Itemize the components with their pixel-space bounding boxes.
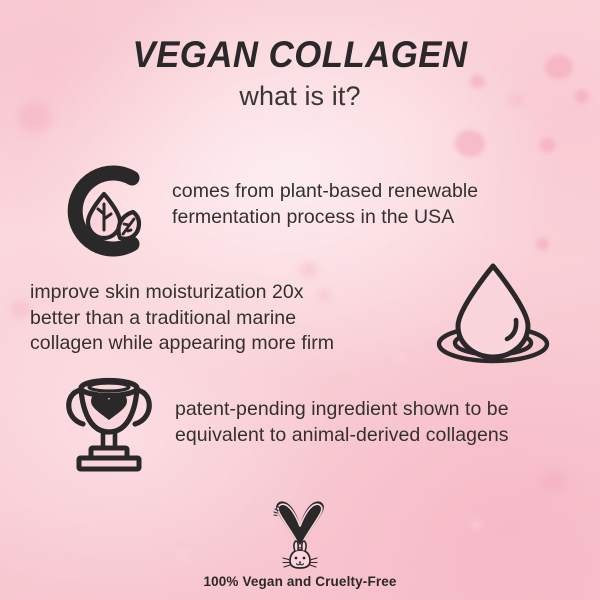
feature-row-1: comes from plant-based renewable ferment… [50,162,570,257]
cruelty-free-bunny-heart-icon [252,498,348,570]
page-subtitle: what is it? [0,81,600,112]
footer-caption: 100% Vegan and Cruelty-Free [0,574,600,589]
collagen-c-leaf-droplet-icon [54,164,158,258]
feature-row-2: improve skin moisturization 20x better t… [28,258,573,368]
water-droplet-ripple-icon [428,258,558,366]
feature-text-3: patent-pending ingredient shown to be eq… [175,397,509,448]
infographic-poster: VEGAN COLLAGEN what is it? comes from pl… [0,0,600,600]
feature-row-3: patent-pending ingredient shown to be eq… [55,368,575,478]
feature-text-1: comes from plant-based renewable ferment… [172,179,478,230]
page-title: VEGAN COLLAGEN [18,36,582,75]
footer-badge: 100% Vegan and Cruelty-Free [0,498,600,589]
trophy-heart-icon [57,370,161,472]
feature-text-2: improve skin moisturization 20x better t… [30,280,334,357]
